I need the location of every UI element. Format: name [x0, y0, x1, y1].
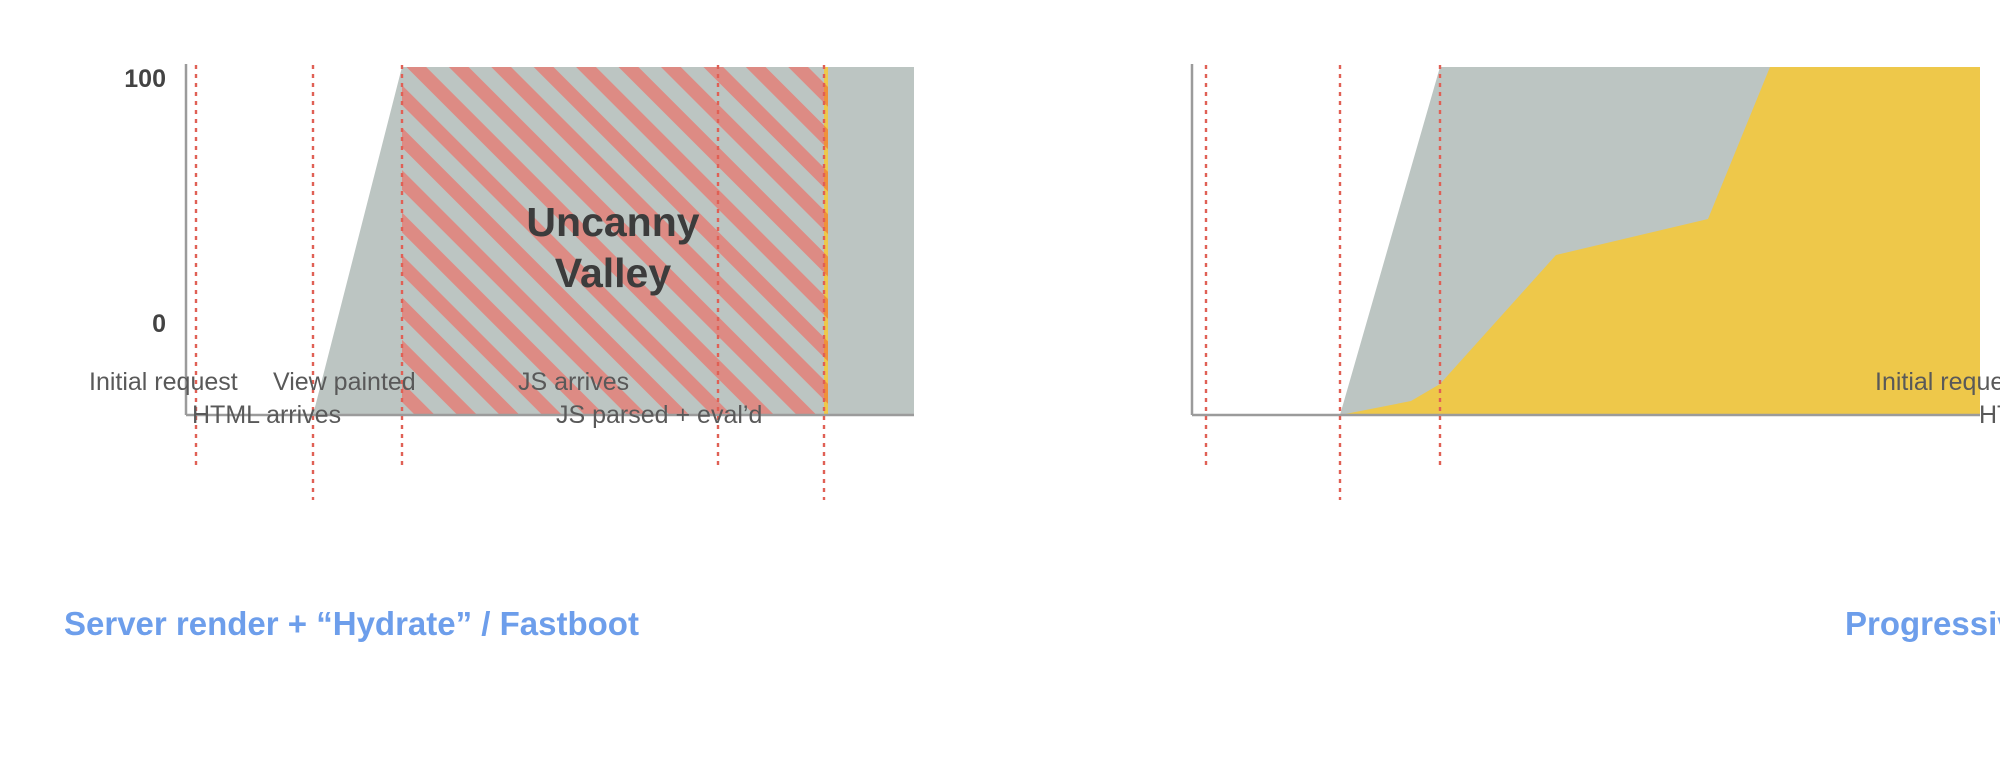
event-label-html-arrives: HTML arrives [1979, 403, 2000, 428]
y-axis-max-label: 100 [96, 65, 166, 94]
chart-panel-progressive-render: 100 0 Initial request HTML arrives View … [1000, 0, 2000, 758]
event-label-js-parsed-evald: JS parsed + eval’d [556, 403, 762, 428]
event-label-initial-request: Initial request [1875, 370, 2000, 395]
progressive-render-chart-svg [1000, 0, 2000, 758]
chart-caption-server-render: Server render + “Hydrate” / Fastboot [64, 607, 639, 640]
event-label-html-arrives: HTML arrives [192, 403, 341, 428]
uncanny-valley-annotation-line1: Uncanny [526, 199, 699, 245]
chart-panel-server-render: Uncanny Valley 100 0 Initial request HTM… [0, 0, 1000, 758]
event-label-initial-request: Initial request [89, 370, 238, 395]
uncanny-valley-annotation-line2: Valley [555, 250, 671, 296]
y-axis-min-label: 0 [96, 310, 166, 339]
event-label-view-painted: View painted [273, 370, 416, 395]
event-label-js-arrives: JS arrives [518, 370, 629, 395]
chart-caption-progressive-render: Progressive render + bootstrap [1845, 607, 2000, 640]
